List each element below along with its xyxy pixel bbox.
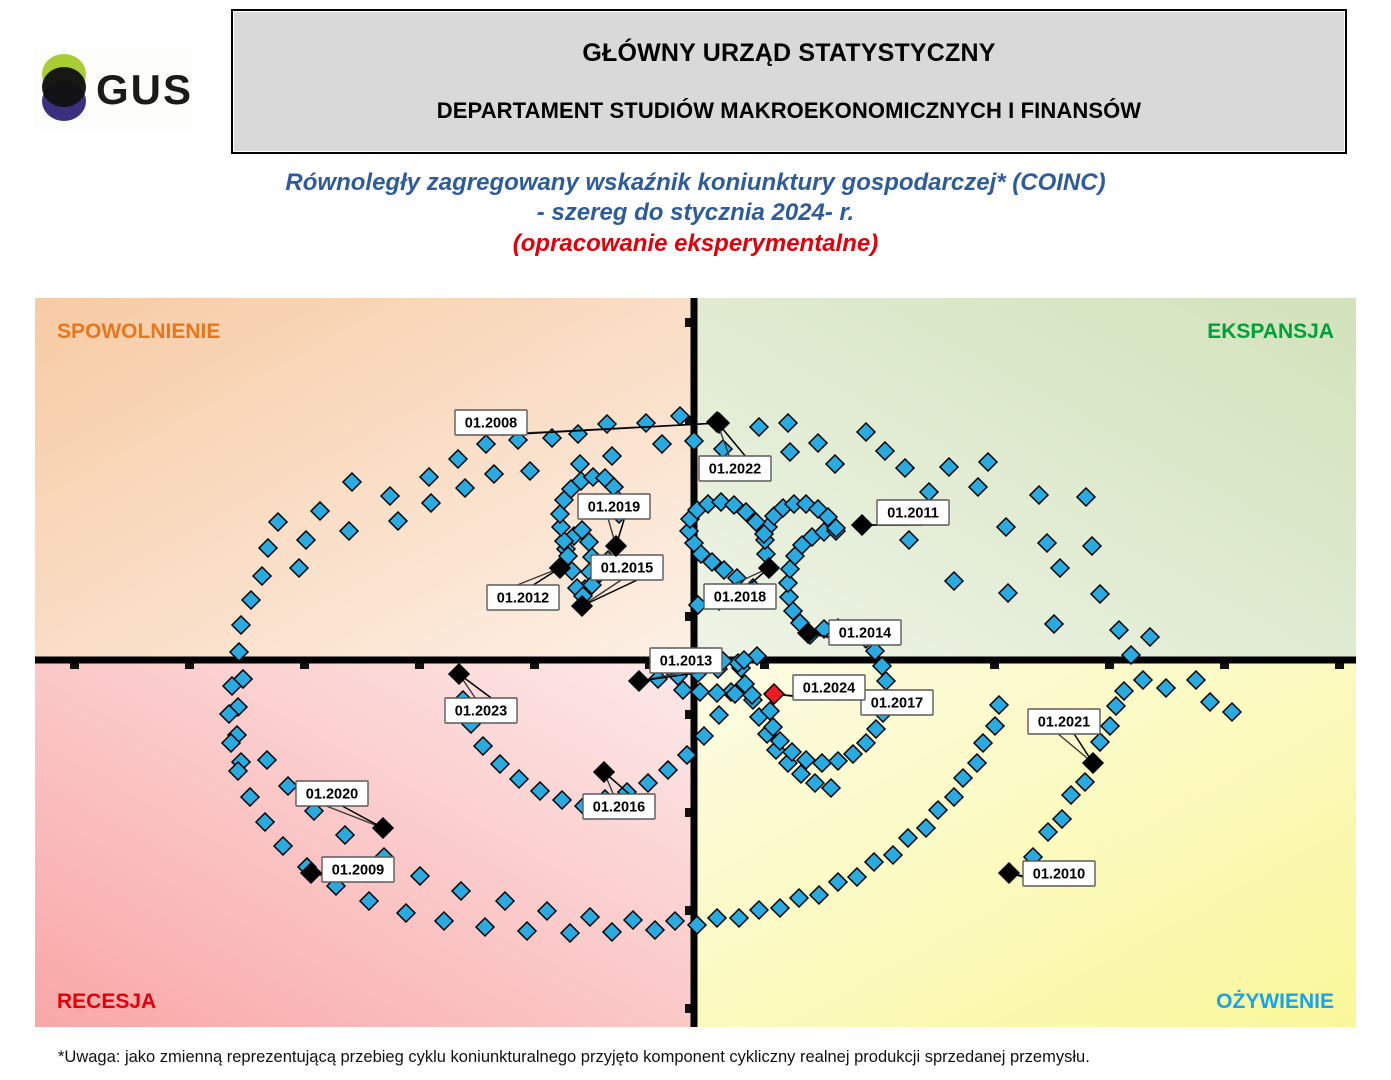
gus-logo-mark: GUS — [34, 48, 194, 130]
quadrant-label-recovery: OŻYWIENIE — [1216, 990, 1334, 1013]
annotation-label: 01.2015 — [601, 561, 653, 577]
x-axis-tick — [760, 663, 769, 669]
annotation-label: 01.2022 — [709, 462, 761, 478]
chart-footnote: *Uwaga: jako zmienną reprezentującą prze… — [58, 1048, 1358, 1067]
chart-title-experimental-note: (opracowanie eksperymentalne) — [0, 228, 1391, 260]
chart-title-line-1: Równoległy zagregowany wskaźnik koniunkt… — [0, 168, 1391, 198]
chart-title-block: Równoległy zagregowany wskaźnik koniunkt… — [0, 168, 1391, 260]
y-axis-tick — [685, 906, 691, 915]
quadrant-label-slowdown: SPOWOLNIENIE — [57, 320, 220, 343]
x-axis-tick — [1105, 663, 1114, 669]
quadrant-label-recession: RECESJA — [57, 990, 156, 1013]
x-axis-tick — [70, 663, 79, 669]
y-axis-tick — [685, 808, 691, 817]
annotation-label: 01.2018 — [714, 590, 766, 606]
x-axis-tick — [990, 663, 999, 669]
organisation-title-box: GŁÓWNY URZĄD STATYSTYCZNY DEPARTAMENT ST… — [231, 9, 1347, 154]
x-axis-tick — [1220, 663, 1229, 669]
quadrant-recovery — [694, 660, 1356, 1027]
annotation-label: 01.2020 — [306, 787, 358, 803]
x-axis-tick — [300, 663, 309, 669]
logo-wordmark: GUS — [96, 66, 193, 113]
annotation-label: 01.2023 — [455, 704, 507, 720]
x-axis-tick — [1335, 663, 1344, 669]
annotation-label: 01.2012 — [497, 591, 549, 607]
department-name: DEPARTAMENT STUDIÓW MAKROEKONOMICZNYCH I… — [437, 98, 1141, 124]
x-axis-tick — [530, 663, 539, 669]
quadrant-label-expansion: EKSPANSJA — [1207, 320, 1334, 343]
annotation-label: 01.2013 — [660, 654, 712, 670]
quadrant-recession — [35, 660, 694, 1027]
annotation-label: 01.2016 — [593, 800, 645, 816]
coinc-scatter-svg: SPOWOLNIENIE EKSPANSJA RECESJA OŻYWIENIE… — [35, 298, 1356, 1027]
x-axis-tick — [415, 663, 424, 669]
annotation-label: 01.2008 — [465, 416, 517, 432]
y-axis-tick — [685, 1004, 691, 1013]
annotation-label: 01.2010 — [1033, 867, 1085, 883]
page-header: GUS GŁÓWNY URZĄD STATYSTYCZNY DEPARTAMEN… — [0, 0, 1391, 160]
annotation-label: 01.2017 — [871, 696, 923, 712]
x-axis-tick — [185, 663, 194, 669]
chart-title-line-2: - szereg do stycznia 2024- r. — [0, 198, 1391, 228]
y-axis-tick — [685, 612, 691, 621]
y-axis-tick — [685, 710, 691, 719]
annotation-label: 01.2024 — [803, 681, 855, 697]
annotation-label: 01.2021 — [1038, 715, 1090, 731]
y-axis-tick — [685, 318, 691, 327]
gus-logo: GUS — [34, 48, 194, 130]
logo-circle-overlap — [42, 67, 86, 107]
coinc-chart: SPOWOLNIENIE EKSPANSJA RECESJA OŻYWIENIE… — [35, 298, 1356, 1027]
annotation-label: 01.2009 — [332, 863, 384, 879]
annotation-label: 01.2014 — [839, 626, 891, 642]
annotation-label: 01.2019 — [588, 500, 640, 516]
organisation-name: GŁÓWNY URZĄD STATYSTYCZNY — [582, 39, 995, 68]
annotation-label: 01.2011 — [887, 506, 939, 522]
